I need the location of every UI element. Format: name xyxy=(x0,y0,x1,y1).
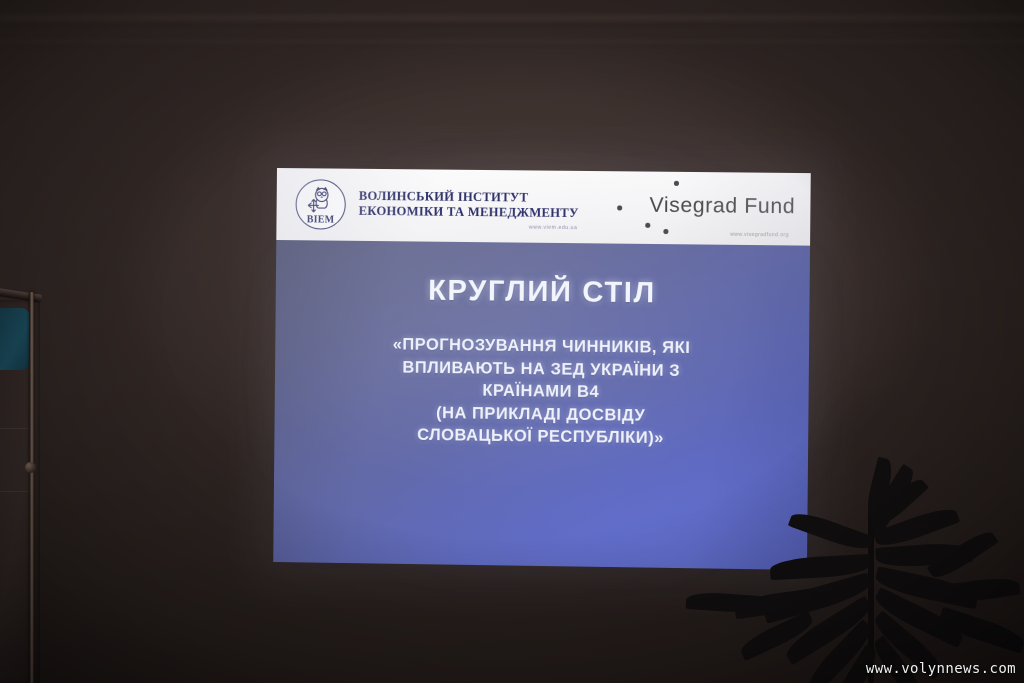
visegrad-dot-left-icon xyxy=(617,205,622,210)
slide-title: КРУГЛИЙ СТІЛ xyxy=(276,240,810,312)
institution-name-block: ВОЛИНСЬКИЙ ІНСТИТУТ ЕКОНОМІКИ ТА МЕНЕДЖМ… xyxy=(359,189,579,223)
institution-name-line-2: ЕКОНОМІКИ ТА МЕНЕДЖМЕНТУ xyxy=(359,203,579,220)
watermark: www.volynnews.com xyxy=(866,661,1016,677)
institution-url: www.viem.edu.ua xyxy=(529,225,578,232)
slide-header-band: ВІЕМ ВОЛИНСЬКИЙ ІНСТИТУТ ЕКОНОМІКИ ТА МЕ… xyxy=(276,168,810,246)
slide-subtitle: «ПРОГНОЗУВАННЯ ЧИННИКІВ, ЯКІ ВПЛИВАЮТЬ Н… xyxy=(274,306,809,452)
slide-body: КРУГЛИЙ СТІЛ «ПРОГНОЗУВАННЯ ЧИННИКІВ, ЯК… xyxy=(273,240,810,570)
visegrad-fund-url: www.visegradfund.org xyxy=(730,232,789,239)
pole-knob xyxy=(25,462,36,473)
room-scene: Лекційний курс xyxy=(0,0,1024,683)
visegrad-dot-bottom-right-icon xyxy=(663,229,668,234)
wall-moulding-upper xyxy=(0,12,1024,26)
visegrad-fund-name: Visegrad Fund xyxy=(649,194,795,220)
viem-logo: ВІЕМ xyxy=(295,179,346,230)
visegrad-dot-top-icon xyxy=(674,181,679,186)
viem-emblem-text: ВІЕМ xyxy=(296,214,344,226)
wall-moulding-lower xyxy=(0,38,1024,46)
visegrad-dot-bottom-left-icon xyxy=(645,223,650,228)
projection-screen: ВІЕМ ВОЛИНСЬКИЙ ІНСТИТУТ ЕКОНОМІКИ ТА МЕ… xyxy=(273,168,811,570)
owl-emblem-icon xyxy=(306,185,336,213)
vertical-pole xyxy=(29,292,34,683)
institution-name-line-1: ВОЛИНСЬКИЙ ІНСТИТУТ xyxy=(359,189,579,206)
visegrad-fund-logo: Visegrad Fund www.visegradfund.org xyxy=(607,175,790,241)
